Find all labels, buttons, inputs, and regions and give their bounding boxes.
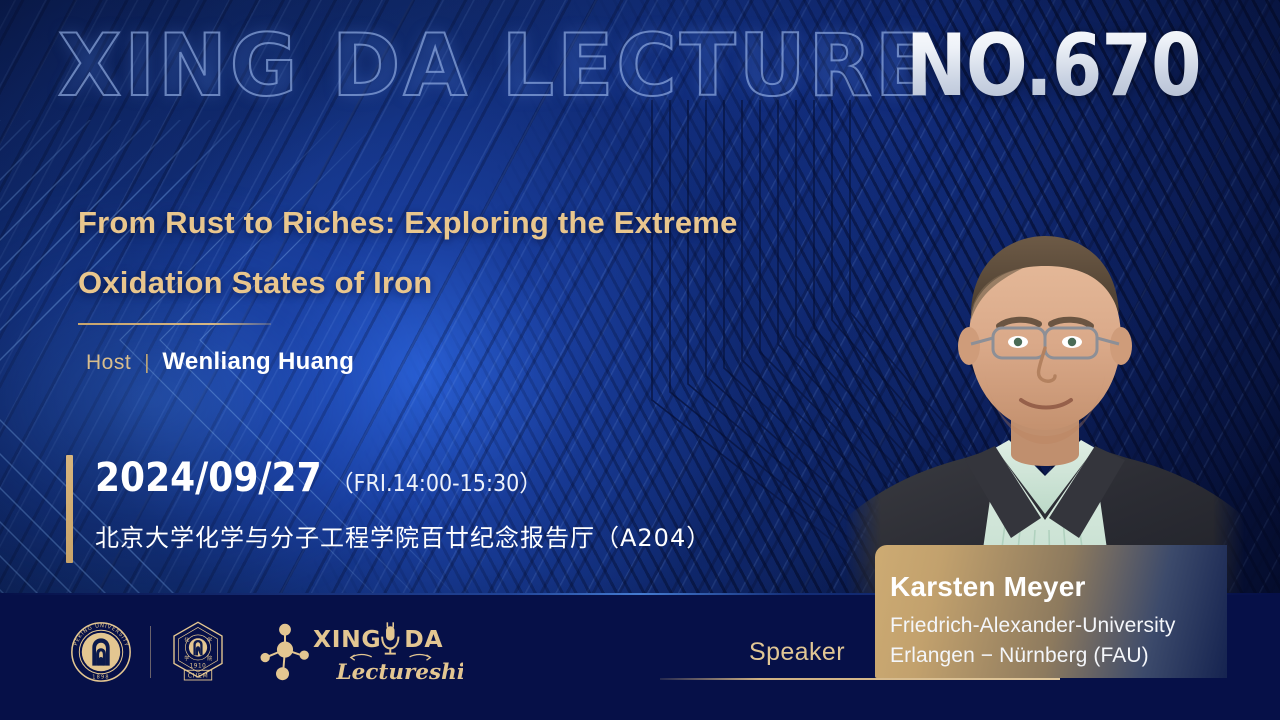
- speaker-name: Karsten Meyer: [890, 571, 1086, 603]
- lecture-poster: XING DA LECTURE NO.670 From Rust to Rich…: [0, 0, 1280, 720]
- speaker-affiliation-line-1: Friedrich-Alexander-University: [890, 611, 1175, 641]
- title-divider: [78, 323, 271, 325]
- lecture-number: NO.670: [906, 16, 1201, 116]
- schedule-accent-bar: [66, 455, 73, 563]
- host-separator: |: [144, 352, 149, 375]
- xing-da-wordmark-icon: XING DA Lectureship: [313, 621, 463, 683]
- svg-text:Lectureship: Lectureship: [335, 660, 463, 683]
- lecture-series-title: XING DA LECTURE: [58, 16, 934, 116]
- speaker-underline: [660, 678, 1060, 680]
- event-venue: 北京大学化学与分子工程学院百廿纪念报告厅（A204）: [95, 518, 711, 553]
- footer-logos: PEKING UNIVERSITY 1898 化 学 学 院 1910 CHEM: [70, 620, 463, 684]
- event-date: 2024/09/27: [95, 455, 322, 501]
- host-label: Host: [86, 351, 131, 375]
- talk-title-line-2: Oxidation States of Iron: [78, 253, 918, 313]
- svg-text:学: 学: [184, 654, 189, 662]
- microphone-icon: [382, 622, 398, 653]
- svg-text:DA: DA: [404, 625, 443, 653]
- talk-title: From Rust to Riches: Exploring the Extre…: [78, 193, 918, 314]
- molecule-icon: [257, 621, 313, 683]
- speaker-affiliation-line-2: Erlangen − Nürnberg (FAU): [890, 641, 1175, 671]
- pku-chemistry-badge-icon: 化 学 学 院 1910 CHEM: [169, 620, 227, 684]
- svg-text:学: 学: [207, 636, 212, 644]
- speaker-label: Speaker: [749, 638, 845, 667]
- talk-title-line-1: From Rust to Riches: Exploring the Extre…: [78, 193, 918, 253]
- speaker-affiliation: Friedrich-Alexander-University Erlangen …: [890, 611, 1175, 671]
- svg-text:CHEM: CHEM: [188, 673, 209, 680]
- host-name: Wenliang Huang: [162, 348, 354, 376]
- svg-text:XING: XING: [313, 625, 381, 653]
- event-time: （FRI.14:00-15:30）: [331, 464, 543, 498]
- svg-text:化: 化: [184, 636, 189, 644]
- poster-header: XING DA LECTURE NO.670: [0, 0, 1280, 130]
- schedule-block: 2024/09/27 （FRI.14:00-15:30） 北京大学化学与分子工程…: [66, 455, 711, 563]
- logo-divider: [150, 626, 151, 678]
- svg-text:1898: 1898: [92, 675, 110, 681]
- xing-da-lectureship-logo: XING DA Lectureship: [257, 621, 463, 683]
- host-row: Host | Wenliang Huang: [86, 348, 354, 376]
- peking-university-seal-icon: PEKING UNIVERSITY 1898: [70, 621, 132, 683]
- svg-text:1910: 1910: [190, 663, 207, 669]
